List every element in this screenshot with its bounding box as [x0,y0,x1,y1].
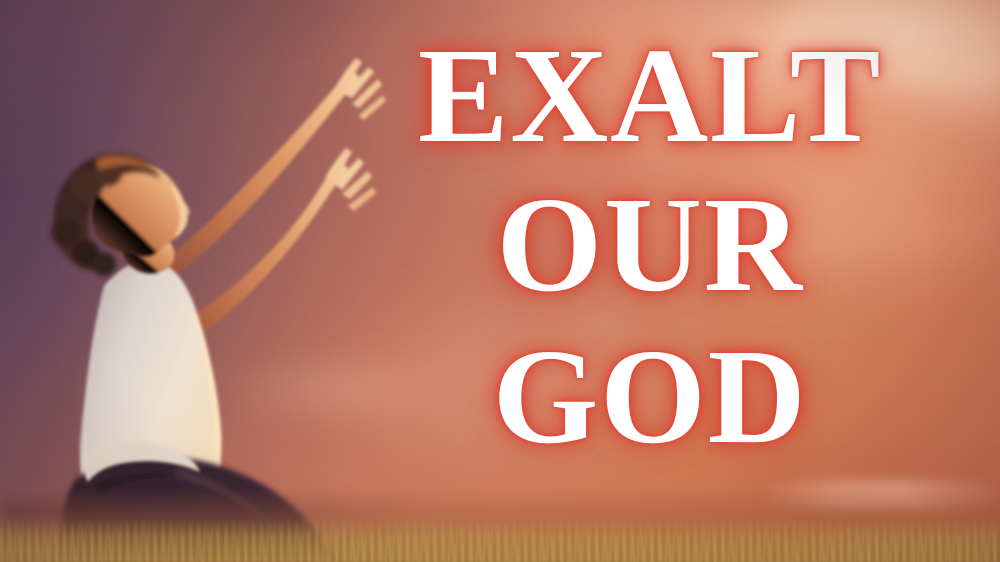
headline-line-1: EXALT [418,30,882,163]
headline-line-3: GOD [493,331,808,464]
headline-line-2: OUR [496,179,803,312]
slide-canvas: EXALT OUR GOD [0,0,1000,562]
headline-block: EXALT OUR GOD [300,0,1000,562]
